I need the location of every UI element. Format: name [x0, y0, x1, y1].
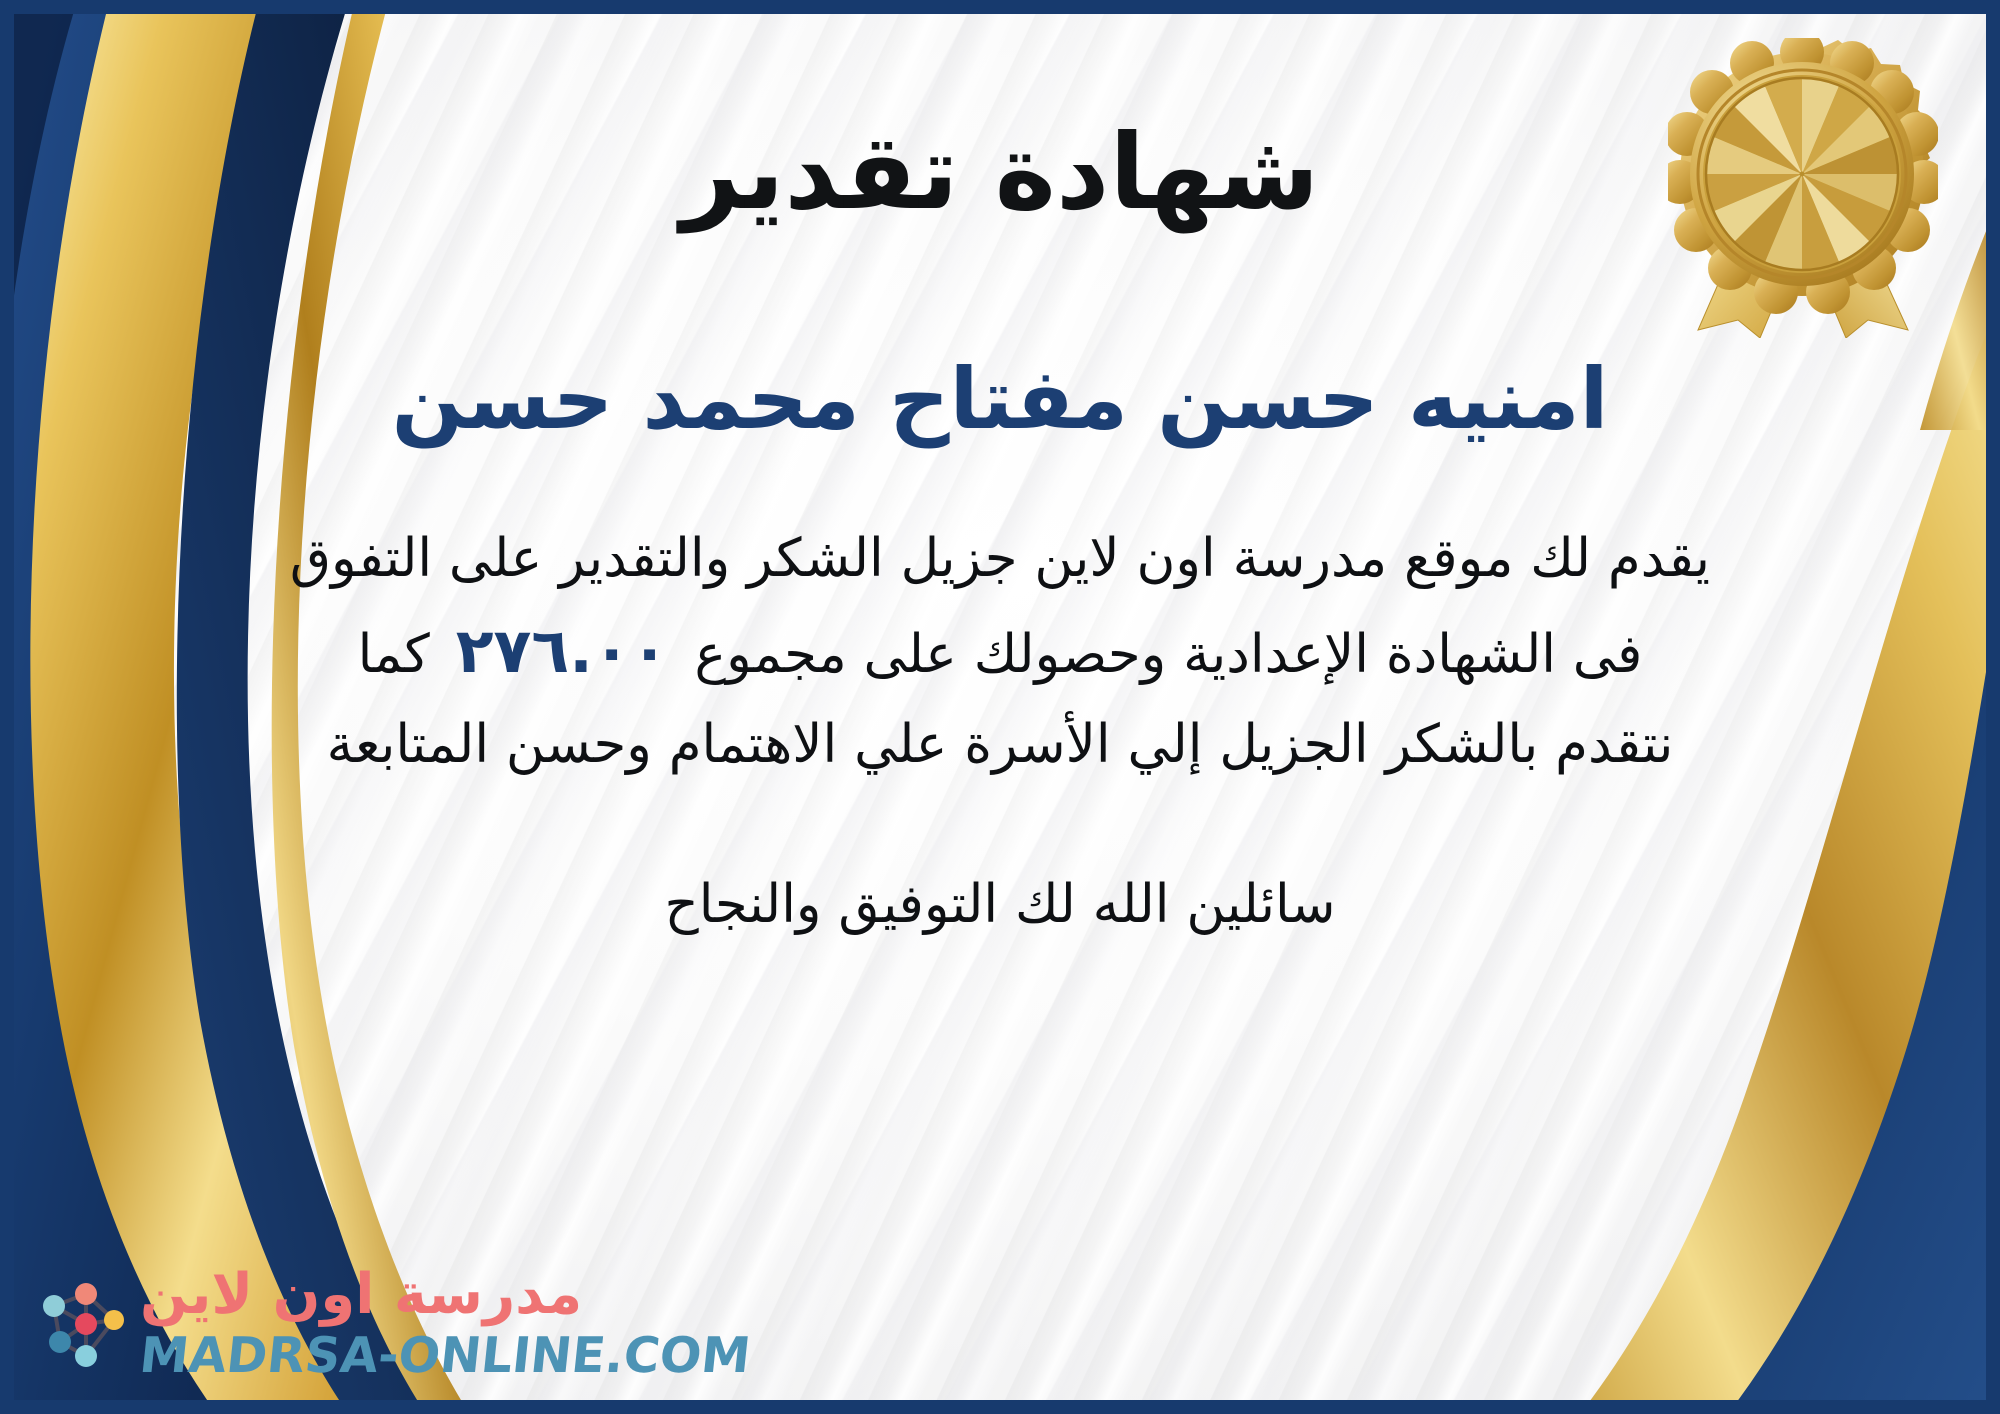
certificate-content: شهادة تقدير امنيه حسن مفتاح محمد حسن يقد…: [0, 0, 2000, 1414]
body-line-2-suffix: كما: [358, 624, 430, 685]
body-line-2-prefix: فى الشهادة الإعدادية وحصولك على مجموع: [694, 624, 1642, 685]
brand-arabic-name: مدرسة اون لاين: [140, 1267, 582, 1323]
closing-wish: سائلين الله لك التوفيق والنجاح: [664, 874, 1335, 935]
body-line-2: فى الشهادة الإعدادية وحصولك على مجموع٢٧٦…: [70, 601, 1930, 701]
brand-website-url: MADRSA-ONLINE.COM: [137, 1331, 752, 1380]
certificate-body: يقدم لك موقع مدرسة اون لاين جزيل الشكر و…: [70, 516, 1930, 788]
brand-text: مدرسة اون لاين MADRSA-ONLINE.COM: [140, 1267, 750, 1380]
network-nodes-icon: [34, 1272, 126, 1376]
body-line-3: نتقدم بالشكر الجزيل إلي الأسرة علي الاهت…: [70, 702, 1930, 788]
score-value: ٢٧٦.٠٠: [430, 601, 695, 701]
student-name: امنيه حسن مفتاح محمد حسن: [392, 353, 1609, 445]
page-title: شهادة تقدير: [681, 118, 1320, 227]
body-line-1: يقدم لك موقع مدرسة اون لاين جزيل الشكر و…: [70, 516, 1930, 602]
certificate-page: شهادة تقدير امنيه حسن مفتاح محمد حسن يقد…: [0, 0, 2000, 1414]
brand-logo[interactable]: مدرسة اون لاين MADRSA-ONLINE.COM: [34, 1267, 750, 1380]
